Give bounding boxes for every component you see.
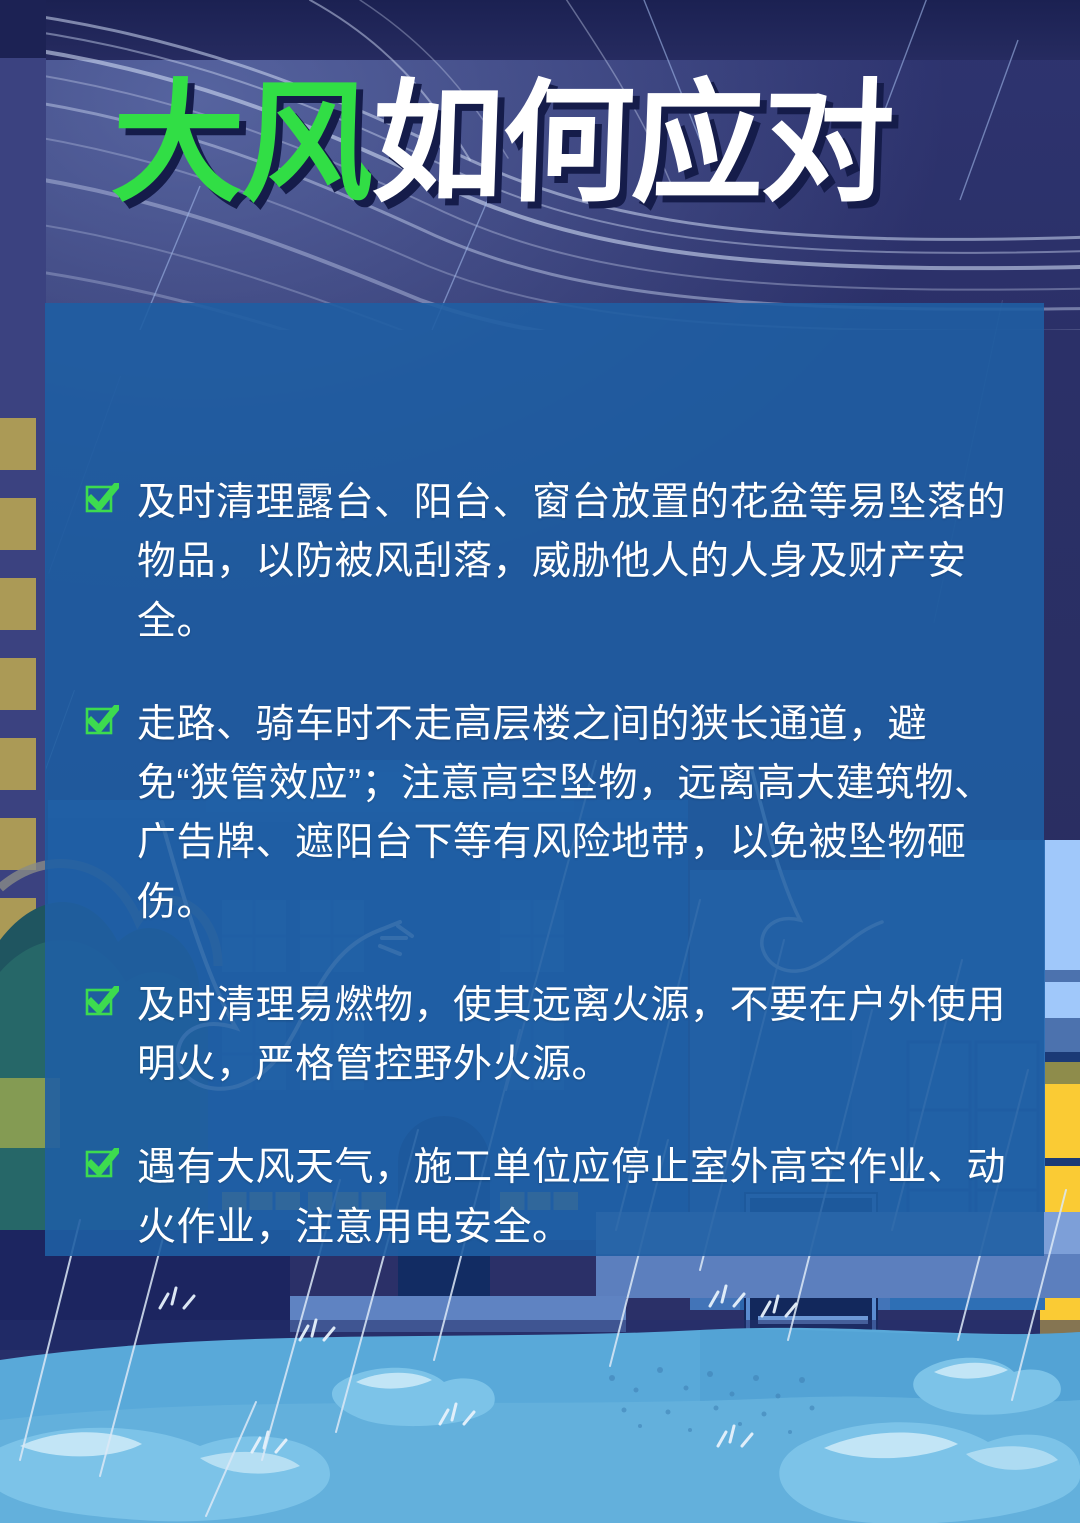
tips-panel: 及时清理露台、阳台、窗台放置的花盆等易坠落的物品，以防被风刮落，威胁他人的人身及…	[45, 303, 1044, 1256]
check-box-icon	[85, 1148, 119, 1182]
title-green-part: 大风	[110, 78, 375, 210]
list-item: 及时清理露台、阳台、窗台放置的花盆等易坠落的物品，以防被风刮落，威胁他人的人身及…	[85, 473, 1015, 651]
title-white-part: 如何应对	[370, 78, 895, 210]
check-box-icon	[85, 986, 119, 1020]
list-item-text: 及时清理易燃物，使其远离火源，不要在户外使用明火，严格管控野外火源。	[137, 976, 1015, 1095]
list-item: 遇有大风天气，施工单位应停止室外高空作业、动火作业，注意用电安全。	[85, 1138, 1015, 1257]
list-item-text: 及时清理露台、阳台、窗台放置的花盆等易坠落的物品，以防被风刮落，威胁他人的人身及…	[137, 473, 1015, 651]
poster-root: 大风如何应对 及时清理露台、阳台、窗台放置的花盆等易坠落的物品，以防被风刮落，威…	[0, 0, 1080, 1523]
strip-tick	[0, 418, 36, 470]
list-item-text: 走路、骑车时不走高层楼之间的狭长通道，避免“狭管效应”；注意高空坠物，远离高大建…	[137, 695, 1015, 932]
check-box-icon	[85, 705, 119, 739]
strip-tick	[0, 578, 36, 630]
list-item: 及时清理易燃物，使其远离火源，不要在户外使用明火，严格管控野外火源。	[85, 976, 1015, 1095]
tips-list: 及时清理露台、阳台、窗台放置的花盆等易坠落的物品，以防被风刮落，威胁他人的人身及…	[85, 473, 1015, 1257]
list-item: 走路、骑车时不走高层楼之间的狭长通道，避免“狭管效应”；注意高空坠物，远离高大建…	[85, 695, 1015, 932]
strip-tick	[0, 658, 36, 710]
page-title: 大风如何应对	[110, 78, 895, 210]
strip-top-cap	[0, 0, 46, 58]
check-box-icon	[85, 483, 119, 517]
strip-tick	[0, 498, 36, 550]
list-item-text: 遇有大风天气，施工单位应停止室外高空作业、动火作业，注意用电安全。	[137, 1138, 1015, 1257]
